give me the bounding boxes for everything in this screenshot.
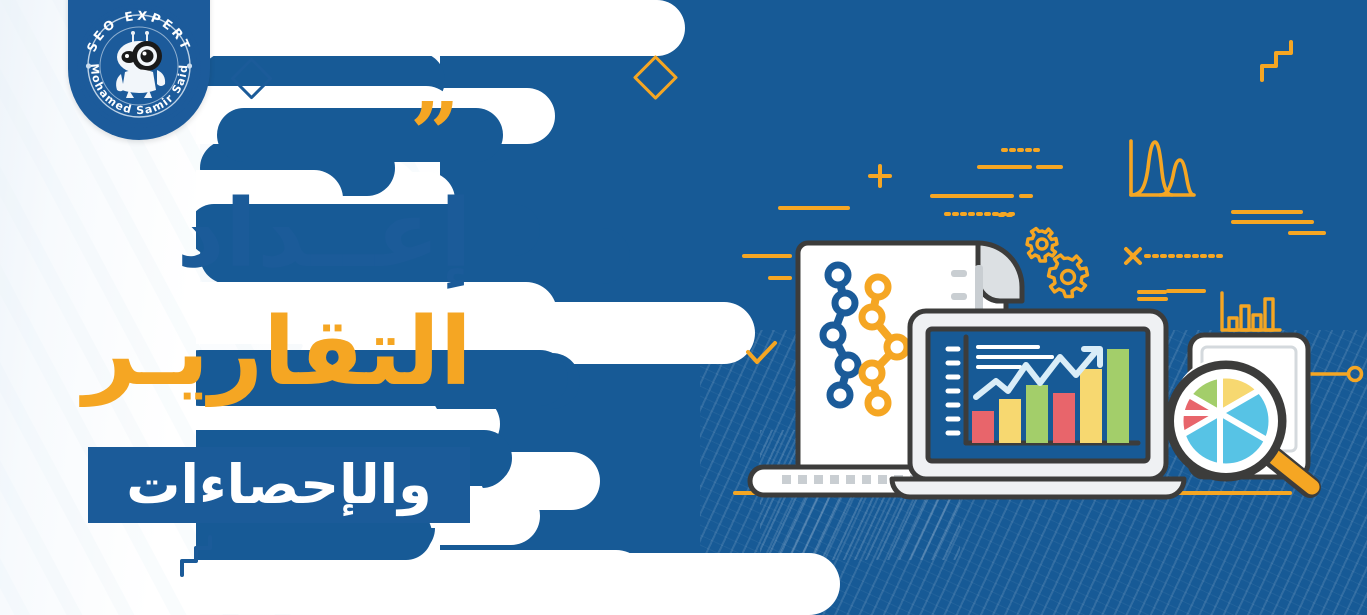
- seo-report-banner: SEO EXPERT Mohamed Samir Said: [0, 0, 1367, 615]
- logo-circle: SEO EXPERT Mohamed Samir Said: [77, 4, 201, 128]
- laptop-axis-ticks: [948, 349, 958, 433]
- quotation-mark: ”: [410, 108, 455, 161]
- headline-line-3-box: والإحصاءات: [88, 447, 470, 523]
- headline-line-1: إعــداد: [177, 188, 472, 282]
- laptop-base: [892, 479, 1184, 497]
- headline-line-2: التقاريـر: [83, 306, 472, 400]
- headline-line-3: والإحصاءات: [126, 458, 431, 512]
- analytics-illustration: [720, 225, 1367, 525]
- laptop-device: [910, 311, 1166, 479]
- brand-logo-badge[interactable]: SEO EXPERT Mohamed Samir Said: [68, 0, 210, 140]
